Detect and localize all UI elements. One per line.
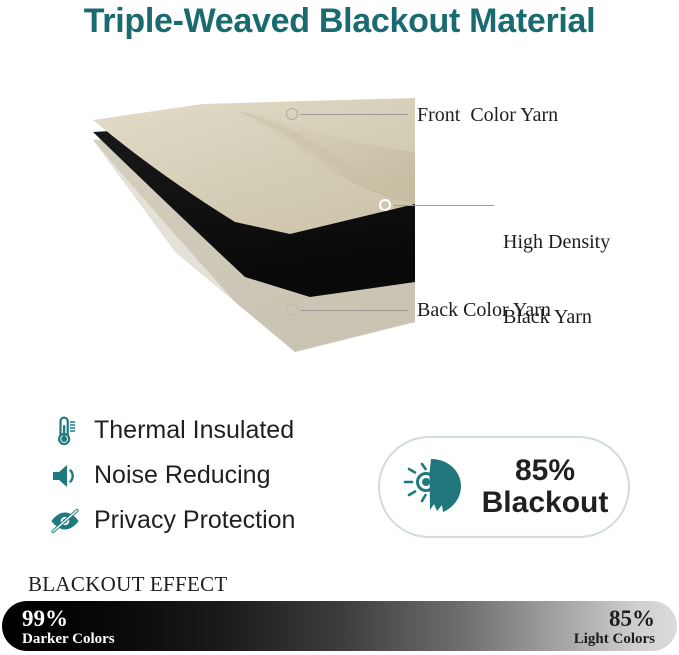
feature-list: Thermal Insulated Noise Reducing Privacy…	[48, 410, 358, 545]
blackout-badge: 85% Blackout	[378, 436, 630, 538]
callout-label-front-color-yarn: Front Color Yarn	[417, 103, 558, 128]
gradient-bar-left-stat: 99% Darker Colors	[22, 607, 115, 648]
feature-label: Privacy Protection	[94, 506, 295, 535]
callout-label-back-color-yarn: Back Color Yarn	[417, 298, 551, 323]
callout-line-front	[300, 114, 408, 115]
badge-word: Blackout	[482, 487, 609, 519]
feature-item-privacy-protection: Privacy Protection	[48, 500, 358, 541]
gradient-bar-right-stat: 85% Light Colors	[574, 607, 655, 648]
gradient-left-caption: Darker Colors	[22, 631, 115, 648]
callout-dot-black	[379, 199, 391, 211]
feature-label: Noise Reducing	[94, 461, 271, 490]
page-title: Triple-Weaved Blackout Material	[0, 2, 679, 41]
gradient-right-caption: Light Colors	[574, 631, 655, 648]
feature-item-noise-reducing: Noise Reducing	[48, 455, 358, 496]
blackout-effect-gradient-bar: 99% Darker Colors 85% Light Colors	[2, 601, 677, 651]
speaker-icon	[48, 459, 82, 493]
badge-percent: 85%	[515, 455, 575, 487]
sun-behind-curtain-icon	[400, 454, 472, 520]
callout-dot-back	[286, 304, 298, 316]
feature-item-thermal-insulated: Thermal Insulated	[48, 410, 358, 451]
gradient-right-percent: 85%	[574, 607, 655, 631]
callout-label-black-line1: High Density	[503, 230, 610, 255]
callout-line-black	[394, 205, 494, 206]
feature-label: Thermal Insulated	[94, 416, 294, 445]
gradient-left-percent: 99%	[22, 607, 115, 631]
eye-slash-icon	[48, 504, 82, 538]
callout-label-high-density-black-yarn: High Density Black Yarn	[503, 180, 610, 355]
callout-line-back	[300, 310, 408, 311]
blackout-effect-heading: BLACKOUT EFFECT	[28, 572, 228, 597]
thermometer-icon	[48, 414, 82, 448]
callout-dot-front	[286, 108, 298, 120]
fabric-layers-diagram	[85, 92, 415, 352]
badge-text: 85% Blackout	[482, 455, 609, 520]
